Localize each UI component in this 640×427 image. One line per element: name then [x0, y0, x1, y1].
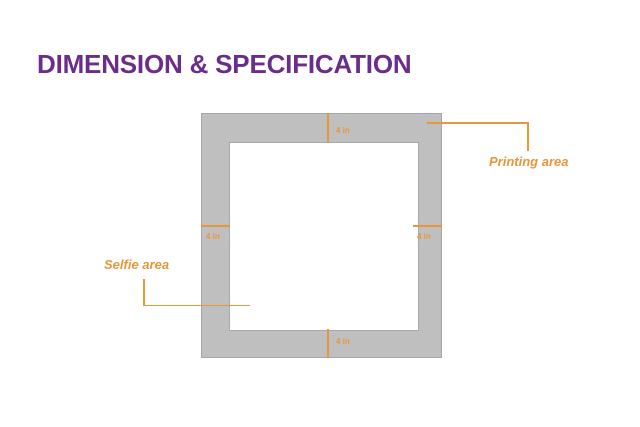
dimension-label-bottom: 4 in — [336, 338, 350, 346]
selfie-area-leader-horizontal — [143, 305, 250, 307]
selfie-area-leader-vertical — [143, 279, 145, 306]
printing-area-leader-horizontal — [427, 122, 529, 124]
printing-area-label: Printing area — [489, 155, 568, 168]
dimension-tick-bottom — [327, 329, 329, 358]
dimension-tick-top — [327, 113, 329, 142]
frame-diagram: 4 in 4 in 4 in 4 in — [201, 113, 442, 358]
dimension-label-top: 4 in — [336, 127, 350, 135]
dimension-label-right: 4 in — [417, 233, 431, 241]
selfie-area-region — [229, 142, 419, 331]
dimension-tick-left — [201, 225, 230, 227]
page-title: DIMENSION & SPECIFICATION — [37, 50, 411, 79]
selfie-area-label: Selfie area — [104, 258, 169, 271]
dimension-label-left: 4 in — [206, 233, 220, 241]
slide-canvas: DIMENSION & SPECIFICATION 4 in 4 in 4 in… — [0, 0, 640, 427]
dimension-tick-right — [413, 225, 442, 227]
printing-area-leader-vertical — [527, 122, 529, 151]
